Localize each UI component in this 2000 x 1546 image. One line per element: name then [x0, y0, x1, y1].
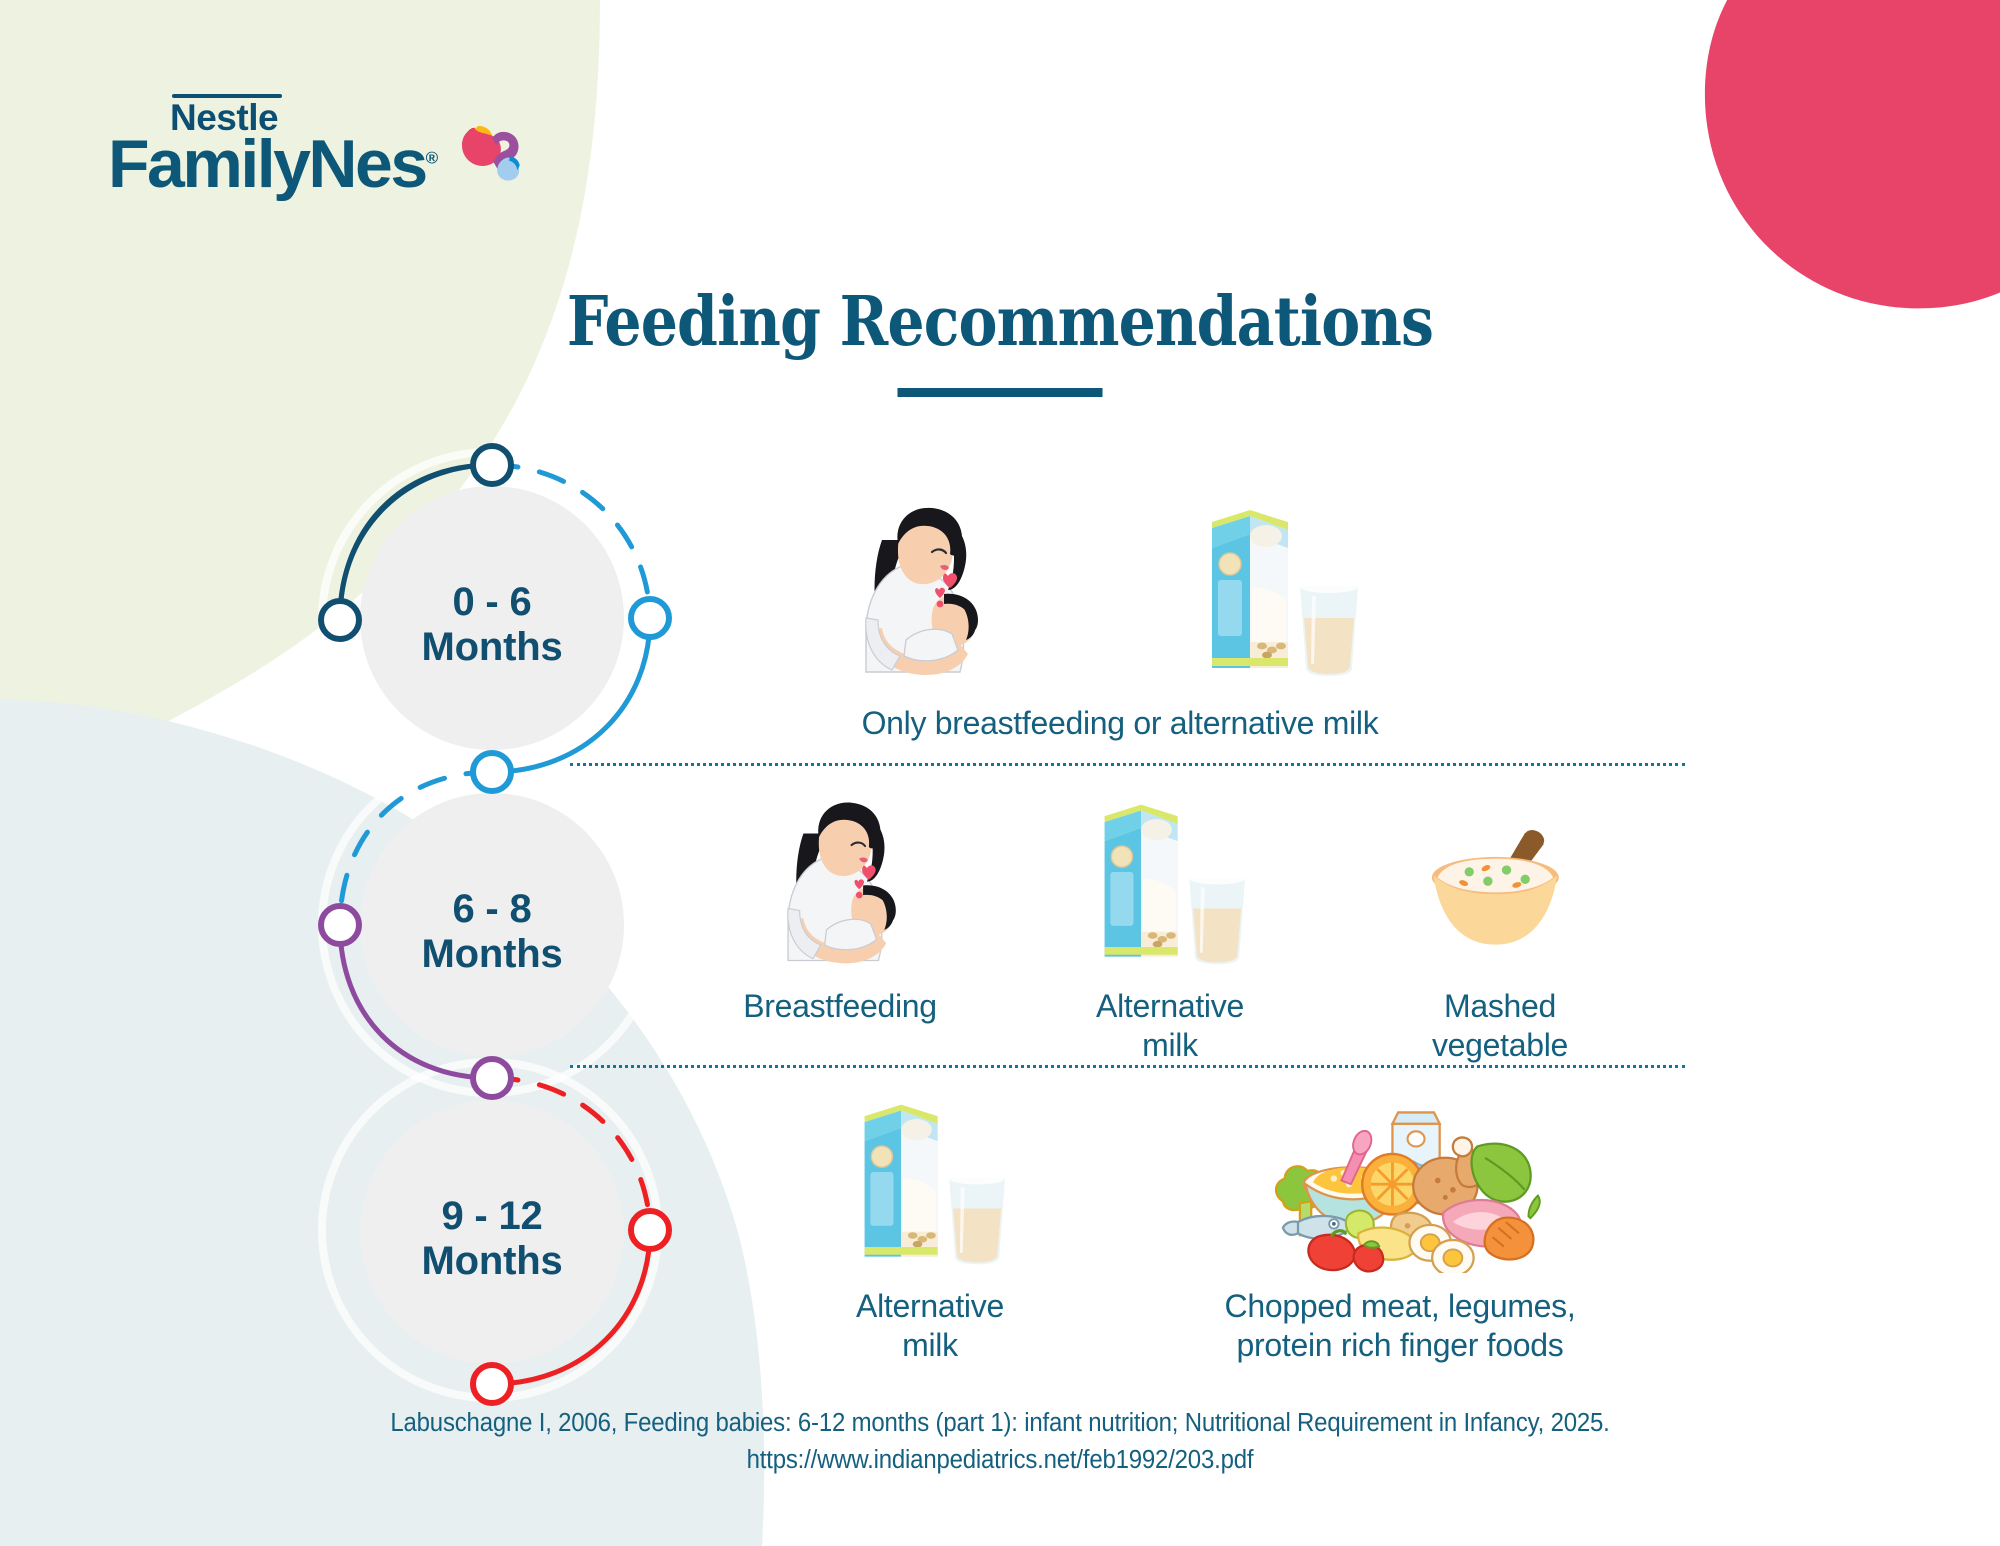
item-mashed-vegetable: Mashed vegetable — [1400, 795, 1600, 1065]
row-9-12-items: Alternative milk — [830, 1095, 1600, 1365]
item-breastfeeding-2: Breastfeeding — [740, 795, 940, 1026]
stage-range-6-8: 6 - 8 — [362, 887, 622, 932]
caption-line1: Alternative — [1096, 988, 1244, 1024]
source-citation: Labuschagne I, 2006, Feeding babies: 6-1… — [60, 1405, 1940, 1480]
brand-logo[interactable]: Nestle FamilyNes® — [108, 100, 524, 198]
caption-assorted-foods: Chopped meat, legumes, protein rich fing… — [1225, 1287, 1576, 1365]
node-right-9-12 — [631, 1211, 669, 1249]
milk-carton-and-glass-illustration — [840, 1095, 1020, 1273]
nestle-word: Nestle — [170, 99, 278, 136]
item-alternative-milk-2: Alternative milk — [1070, 795, 1270, 1065]
stage-range-9-12: 9 - 12 — [362, 1194, 622, 1239]
caption-line1: Alternative — [856, 1288, 1004, 1324]
familynes-logo-mark-icon — [448, 118, 524, 192]
item-alternative-milk-3: Alternative milk — [830, 1095, 1030, 1365]
milk-carton-and-glass-illustration — [1080, 795, 1260, 973]
stage-range-0-6: 0 - 6 — [362, 580, 622, 625]
mashed-vegetable-bowl-illustration — [1420, 795, 1580, 973]
row-0-6-items — [840, 500, 1370, 685]
node-right-0-6 — [631, 599, 669, 637]
row-6-8-items: Breastfeeding — [740, 795, 1600, 1065]
node-bottom-9-12 — [473, 1365, 511, 1403]
node-left-6-8 — [321, 906, 359, 944]
item-alternative-milk — [1190, 500, 1370, 685]
assorted-foods-illustration — [1255, 1095, 1545, 1273]
node-left-0-6 — [321, 601, 359, 639]
citation-line-1: Labuschagne I, 2006, Feeding babies: 6-1… — [60, 1405, 1940, 1443]
caption-row-0-6: Only breastfeeding or alternative milk — [840, 704, 1400, 743]
infographic-canvas: Nestle FamilyNes® Feeding Recommendation… — [0, 0, 2000, 1546]
breastfeeding-illustration — [760, 795, 920, 973]
citation-line-2[interactable]: https://www.indianpediatrics.net/feb1992… — [60, 1442, 1940, 1480]
caption-breastfeeding: Breastfeeding — [743, 987, 937, 1026]
caption-alternative-milk-row2: Alternative milk — [1096, 987, 1244, 1065]
caption-line2: milk — [902, 1327, 958, 1363]
familynes-word: FamilyNes® — [108, 130, 438, 198]
caption-line2: vegetable — [1432, 1027, 1568, 1063]
stage-unit-0-6: Months — [362, 625, 622, 670]
page-title: Feeding Recommendations — [140, 282, 1860, 362]
caption-alternative-milk-row3: Alternative milk — [856, 1287, 1004, 1365]
stage-label-6-8: 6 - 8 Months — [362, 887, 622, 977]
node-top-0-6 — [473, 446, 511, 484]
node-between-0-6-and-6-8 — [473, 753, 511, 791]
caption-line2: protein rich finger foods — [1237, 1327, 1564, 1363]
row-divider-1 — [570, 763, 1685, 766]
caption-line2: milk — [1142, 1027, 1198, 1063]
stage-label-0-6: 0 - 6 Months — [362, 580, 622, 670]
node-between-6-8-and-9-12 — [473, 1059, 511, 1097]
registered-mark: ® — [426, 148, 439, 167]
row-divider-2 — [570, 1065, 1685, 1068]
caption-mashed-vegetable: Mashed vegetable — [1432, 987, 1568, 1065]
brand-wordmark: Nestle FamilyNes® — [108, 100, 438, 198]
item-breastfeeding — [840, 500, 1000, 685]
caption-line1: Mashed — [1444, 988, 1556, 1024]
milk-carton-and-glass-illustration — [1190, 500, 1370, 685]
title-underline — [898, 388, 1103, 397]
stage-label-9-12: 9 - 12 Months — [362, 1194, 622, 1284]
caption-line1: Chopped meat, legumes, — [1225, 1288, 1576, 1324]
stage-unit-6-8: Months — [362, 932, 622, 977]
stage-unit-9-12: Months — [362, 1239, 622, 1284]
breastfeeding-illustration — [840, 500, 1000, 685]
item-assorted-foods: Chopped meat, legumes, protein rich fing… — [1200, 1095, 1600, 1365]
